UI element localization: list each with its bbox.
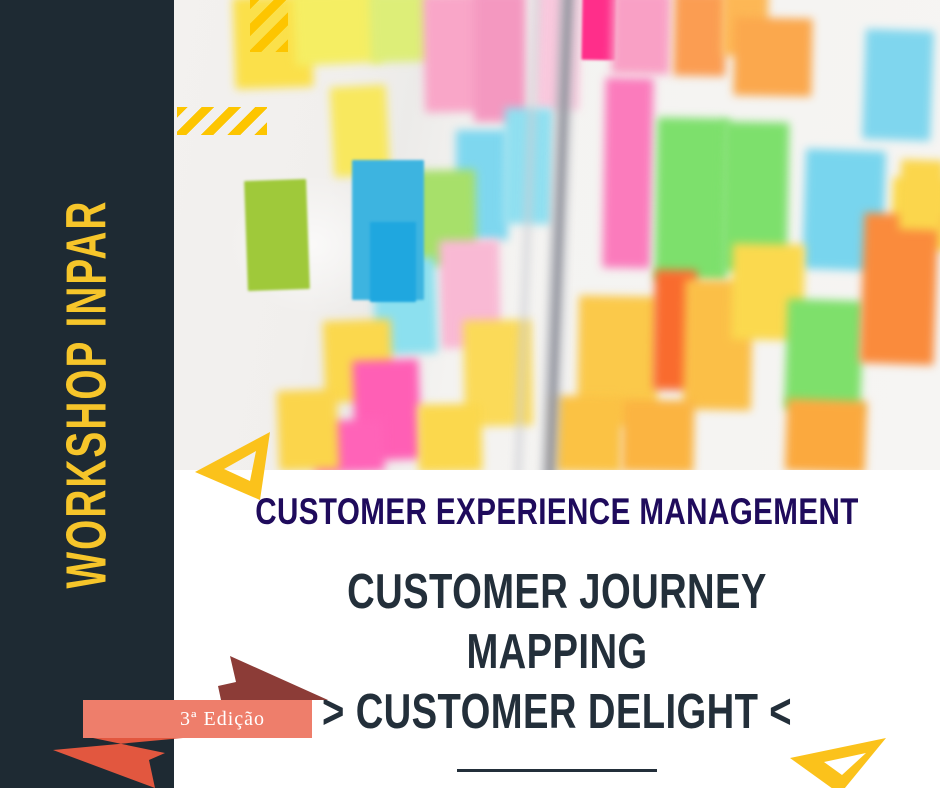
sticky-note xyxy=(862,29,934,141)
edition-ribbon: 3ª Edição xyxy=(83,700,312,738)
headline-line-2: > CUSTOMER DELIGHT < xyxy=(258,683,855,743)
headline-line-1: CUSTOMER JOURNEY MAPPING xyxy=(347,565,767,679)
main-headline: CUSTOMER JOURNEY MAPPING > CUSTOMER DELI… xyxy=(258,530,855,742)
sticky-note xyxy=(621,399,694,470)
sticky-note xyxy=(899,159,940,230)
ribbon-fold-top xyxy=(216,656,328,700)
sticky-note xyxy=(785,399,867,470)
kicker-heading: CUSTOMER EXPERIENCE MANAGEMENT xyxy=(251,470,864,530)
diagonal-stripes-horizontal-icon xyxy=(177,107,267,135)
triangle-outline-down-icon xyxy=(788,736,888,788)
sticky-note xyxy=(859,213,938,365)
sticky-note xyxy=(474,0,526,122)
triangle-outline-left-icon xyxy=(194,430,272,502)
sticky-note xyxy=(611,0,670,74)
sticky-note xyxy=(655,117,730,280)
sidebar: WORKSHOP INPAR xyxy=(0,0,174,788)
sidebar-title: WORKSHOP INPAR xyxy=(59,200,116,589)
sticky-note xyxy=(370,222,416,302)
ribbon-label: 3ª Edição xyxy=(83,700,312,738)
diagonal-stripes-vertical-icon xyxy=(250,0,288,52)
sticky-note xyxy=(277,389,340,470)
sticky-note xyxy=(733,17,812,96)
sticky-note xyxy=(673,0,726,76)
ribbon-fold-bottom xyxy=(53,738,183,788)
sticky-note xyxy=(602,78,653,269)
sticky-note xyxy=(369,0,431,63)
sticky-note xyxy=(417,403,482,470)
sticky-notes-photo xyxy=(174,0,940,470)
event-poster: WORKSHOP INPAR 3ª Edição CUSTOMER EXPERI… xyxy=(0,0,940,788)
sticky-note xyxy=(244,179,310,291)
sticky-note xyxy=(784,299,864,412)
